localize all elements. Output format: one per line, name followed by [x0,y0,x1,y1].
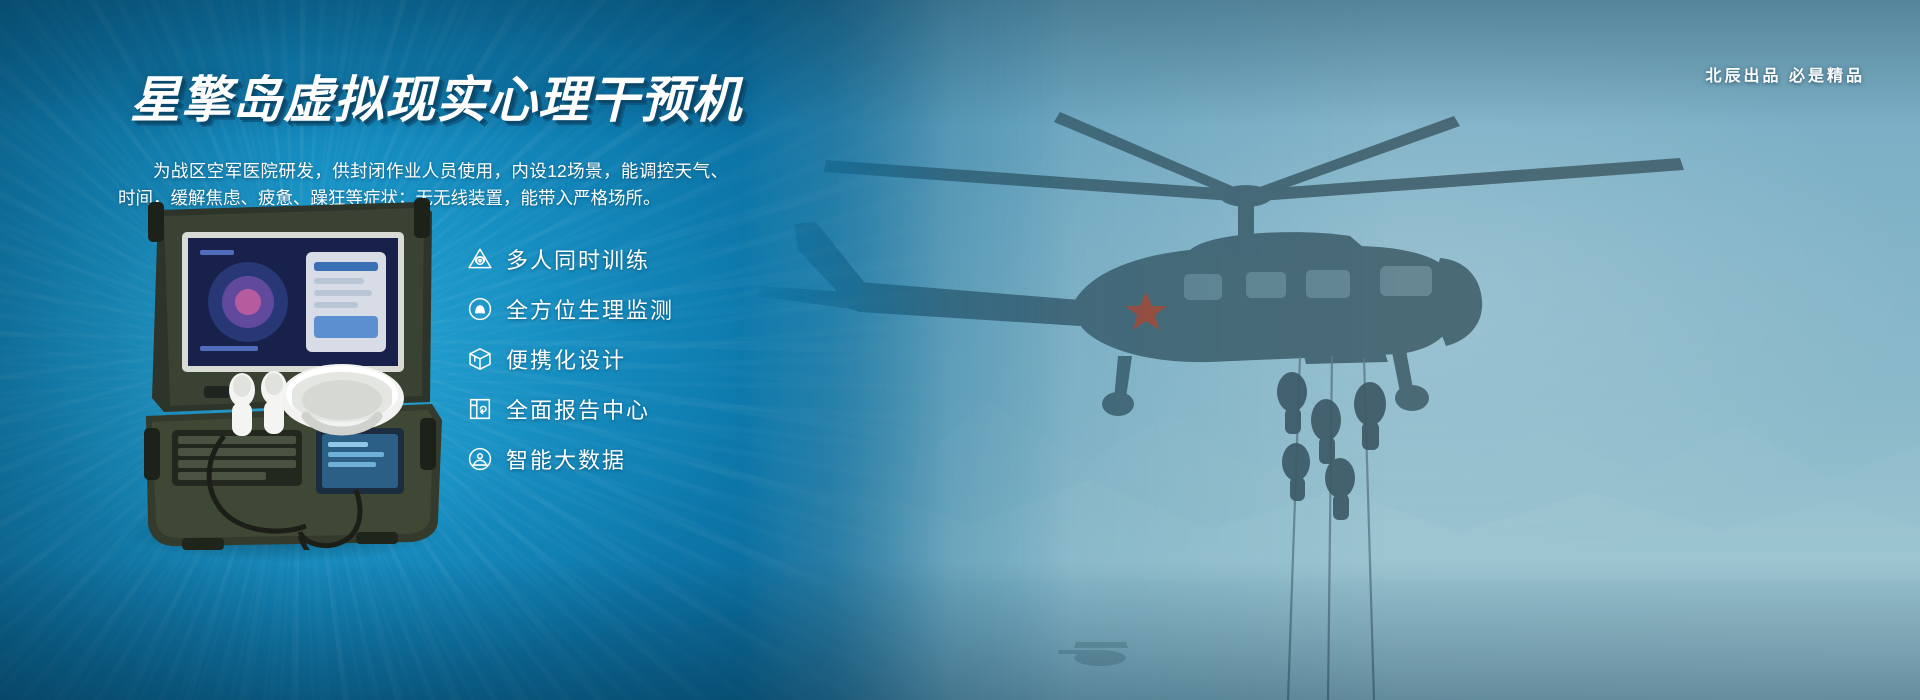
feature-item-big-data[interactable]: 智能大数据 [467,443,674,475]
brand-slogan: 北辰出品 必是精品 [1706,62,1865,86]
feature-label: 智能大数据 [506,443,626,475]
feature-item-multi-user[interactable]: 多人同时训练 [467,243,674,275]
box-package-icon [467,346,493,372]
feature-list: 多人同时训练 全方位生理监测 便携化设计 [467,243,674,475]
vr-case-illustration [120,190,450,550]
feature-item-physiological-monitoring[interactable]: 全方位生理监测 [467,293,674,325]
multi-user-triangle-icon [467,246,493,272]
page-title: 星擎岛虚拟现实心理干预机 [130,74,742,127]
big-data-circle-icon [467,446,493,472]
product-photo [120,190,450,550]
feature-label: 便携化设计 [506,343,626,375]
promo-banner: 北辰出品 必是精品 星擎岛虚拟现实心理干预机 为战区空军医院研发，供封闭作业人员… [0,0,1920,700]
feature-label: 多人同时训练 [506,243,650,275]
feature-item-portable-design[interactable]: 便携化设计 [467,343,674,375]
feature-label: 全面报告中心 [506,393,650,425]
feature-label: 全方位生理监测 [506,293,674,325]
report-document-icon [467,396,493,422]
monitor-circle-icon [467,296,493,322]
feature-item-report-center[interactable]: 全面报告中心 [467,393,674,425]
